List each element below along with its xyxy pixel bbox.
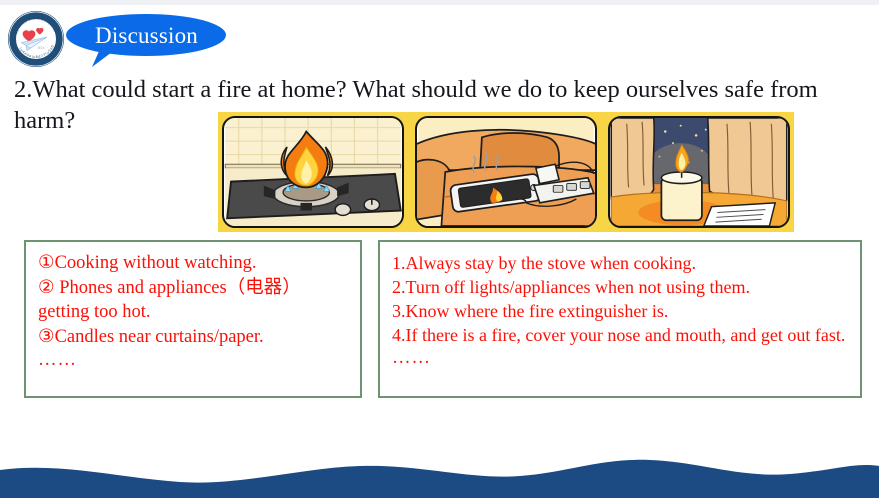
candle-near-curtains-picture bbox=[608, 116, 790, 228]
gas-stove-flame-picture bbox=[222, 116, 404, 228]
causes-line-2: ② Phones and appliances（电器）getting too h… bbox=[38, 276, 350, 325]
school-badge-logo: RUNNING EVERY SUNSHINE \u4e0a\u6d77\u5e0… bbox=[7, 10, 65, 68]
discussion-speech-bubble: Discussion bbox=[64, 12, 234, 70]
svg-text:BSX: BSX bbox=[38, 46, 45, 50]
causes-line-1: ①Cooking without watching. bbox=[38, 251, 350, 276]
causes-ellipsis: …… bbox=[38, 349, 350, 371]
safety-line-2: 2.Turn off lights/appliances when not us… bbox=[392, 275, 852, 299]
safety-ellipsis: …… bbox=[392, 347, 852, 369]
safety-line-4: 4.If there is a fire, cover your nose an… bbox=[392, 323, 852, 347]
bottom-wave-decoration bbox=[0, 452, 879, 498]
causes-answer-box: ①Cooking without watching. ② Phones and … bbox=[24, 240, 362, 398]
overheating-phone-on-sofa-picture bbox=[415, 116, 597, 228]
picture-strip bbox=[218, 112, 794, 232]
top-band-divider bbox=[0, 0, 879, 5]
causes-line-3: ③Candles near curtains/paper. bbox=[38, 325, 350, 350]
safety-line-3: 3.Know where the fire extinguisher is. bbox=[392, 299, 852, 323]
safety-answer-box: 1.Always stay by the stove when cooking.… bbox=[378, 240, 862, 398]
slide-canvas: RUNNING EVERY SUNSHINE \u4e0a\u6d77\u5e0… bbox=[0, 0, 879, 498]
safety-line-1: 1.Always stay by the stove when cooking. bbox=[392, 251, 852, 275]
